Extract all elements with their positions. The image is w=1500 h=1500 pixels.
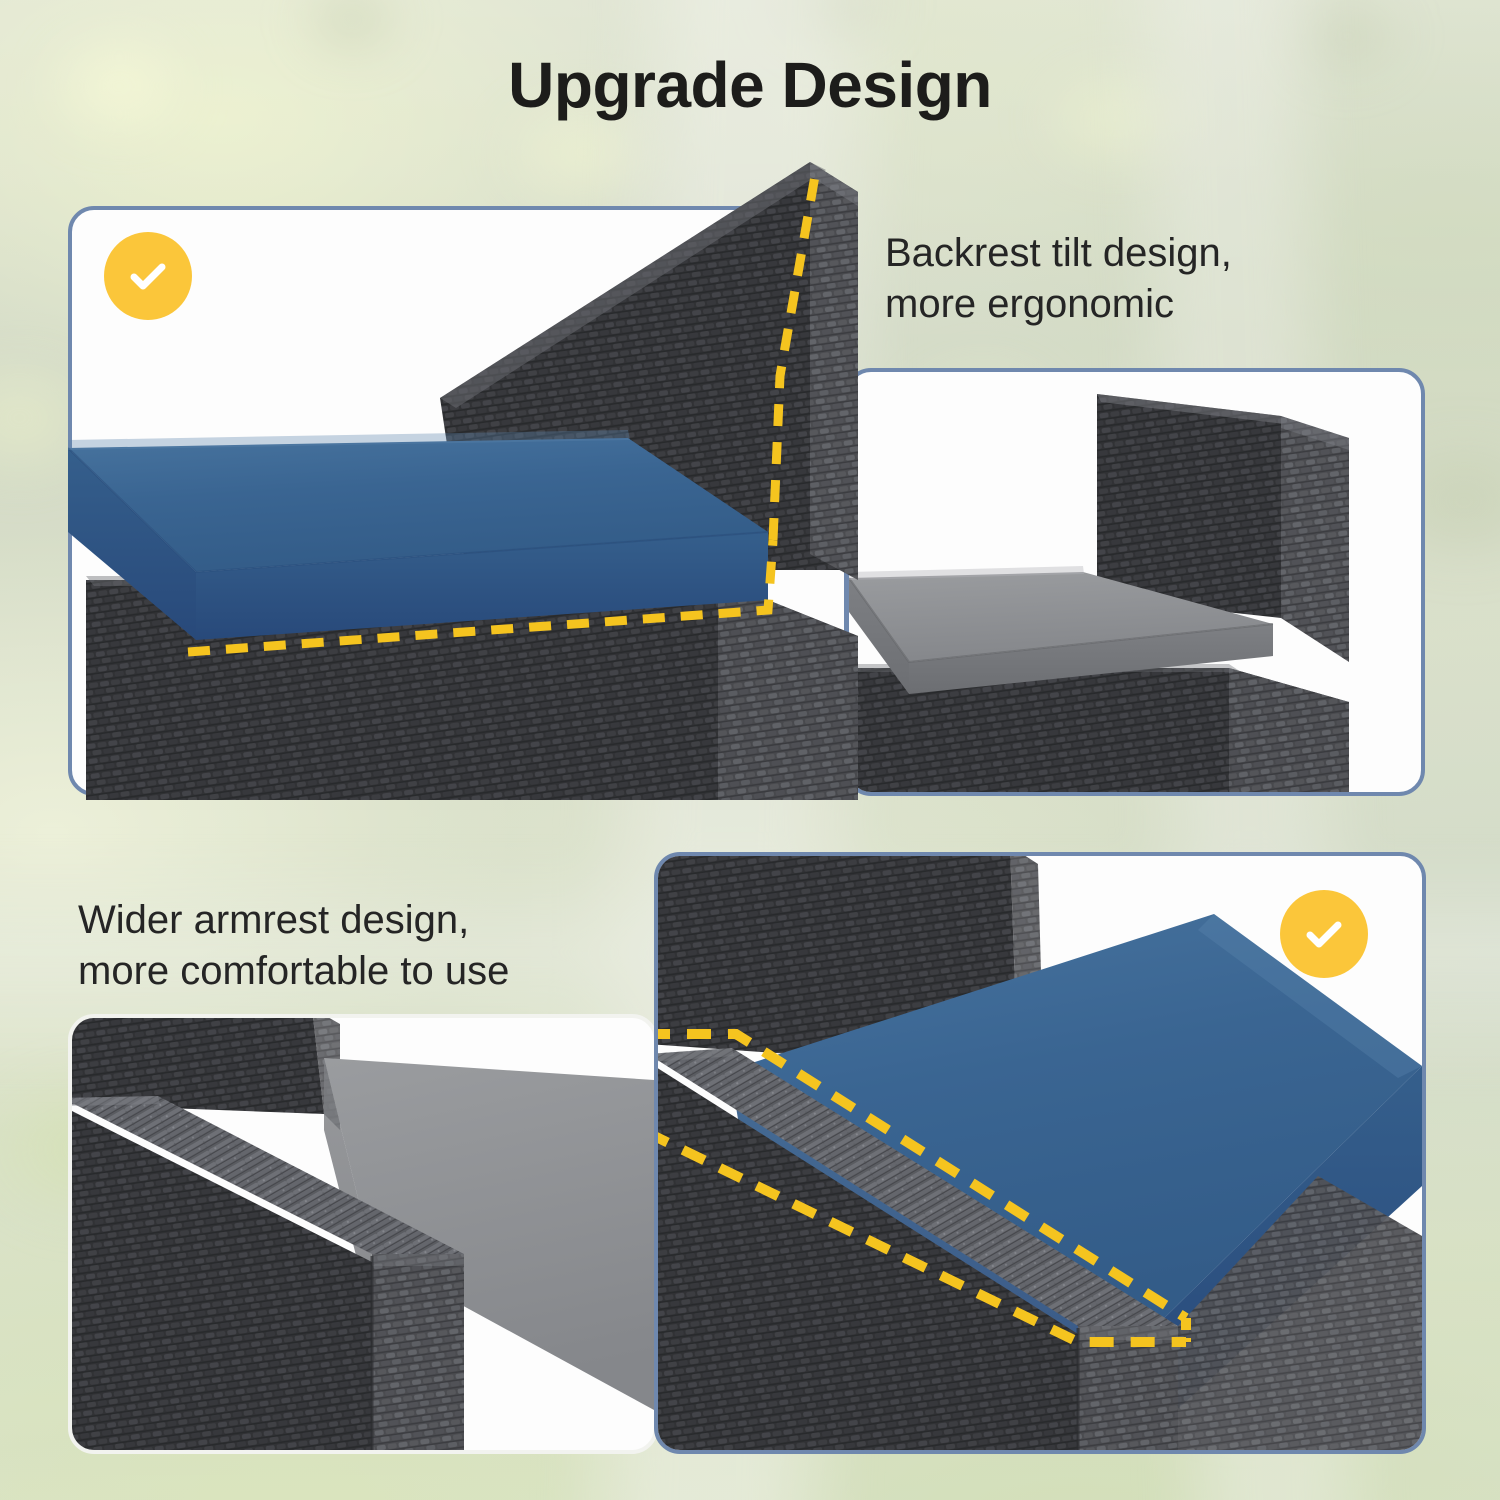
artwork-armrest-before <box>72 1018 654 1450</box>
artwork-backrest-before <box>849 372 1421 792</box>
check-icon <box>122 250 174 302</box>
caption-wider-armrest: Wider armrest design, more comfortable t… <box>78 895 509 997</box>
caption-backrest-tilt: Backrest tilt design, more ergonomic <box>885 228 1232 330</box>
check-badge-armrest <box>1280 890 1368 978</box>
panel-armrest-before <box>68 1014 658 1454</box>
page-title: Upgrade Design <box>0 48 1500 122</box>
panel-backrest-before <box>845 368 1425 796</box>
check-icon <box>1298 908 1350 960</box>
check-badge-backrest <box>104 232 192 320</box>
